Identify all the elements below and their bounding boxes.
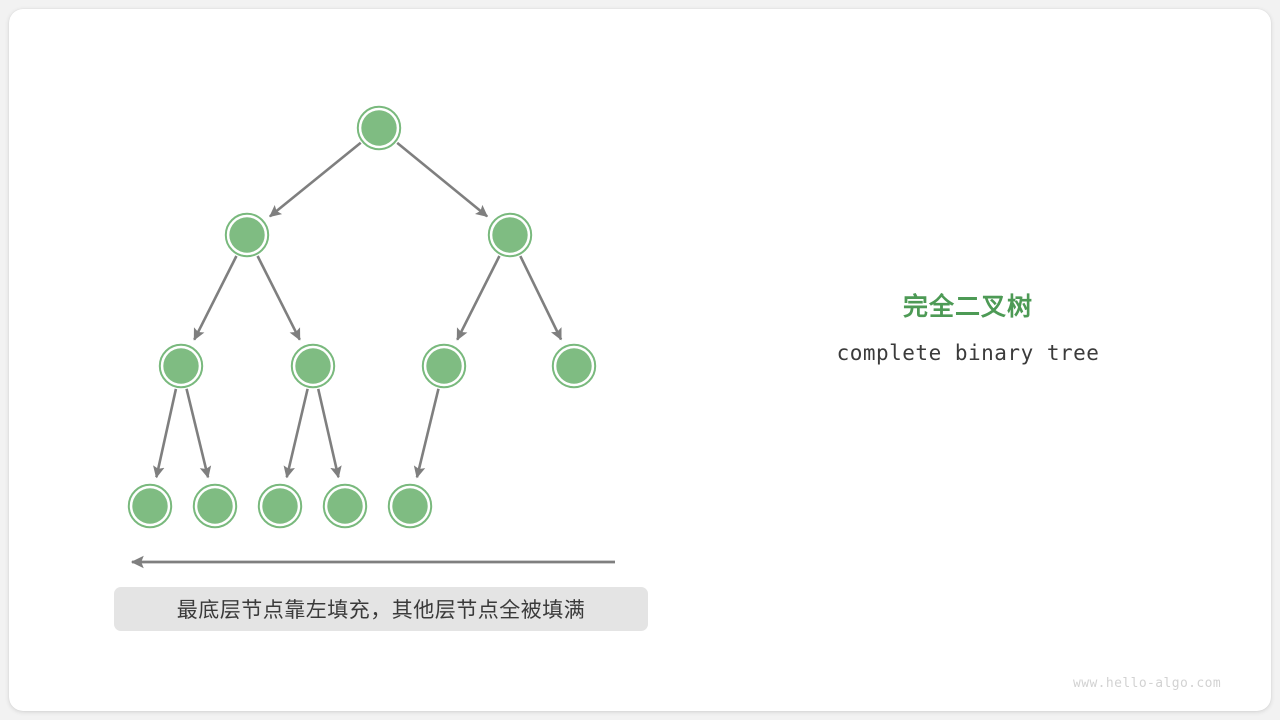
legend-title-cn: 完全二叉树	[768, 292, 1168, 322]
tree-node-fill	[295, 348, 330, 383]
tree-node	[324, 485, 366, 527]
tree-node	[226, 214, 268, 256]
tree-edge	[258, 256, 300, 340]
tree-node-fill	[163, 348, 198, 383]
tree-node	[129, 485, 171, 527]
tree-nodes	[129, 107, 595, 527]
legend-title-en: complete binary tree	[768, 341, 1168, 365]
tree-node-fill	[392, 488, 427, 523]
slide-canvas: 完全二叉树 complete binary tree 最底层节点靠左填充，其他层…	[0, 0, 1280, 720]
tree-node	[489, 214, 531, 256]
tree-edge	[397, 143, 487, 216]
tree-edge	[287, 389, 308, 477]
legend-title-block: 完全二叉树 complete binary tree	[768, 292, 1168, 365]
tree-node	[194, 485, 236, 527]
tree-edge	[194, 256, 236, 340]
tree-edge	[187, 389, 208, 477]
tree-edge	[457, 256, 499, 340]
tree-node	[160, 345, 202, 387]
tree-node-fill	[361, 110, 396, 145]
tree-node-fill	[492, 217, 527, 252]
tree-node-fill	[132, 488, 167, 523]
caption-text: 最底层节点靠左填充，其他层节点全被填满	[177, 594, 586, 624]
tree-node	[423, 345, 465, 387]
tree-node-fill	[426, 348, 461, 383]
tree-node-fill	[556, 348, 591, 383]
tree-node-fill	[327, 488, 362, 523]
tree-node-fill	[197, 488, 232, 523]
tree-node	[358, 107, 400, 149]
watermark: www.hello-algo.com	[1073, 676, 1221, 691]
tree-node	[259, 485, 301, 527]
tree-edge	[318, 389, 338, 477]
tree-node-fill	[229, 217, 264, 252]
tree-node	[553, 345, 595, 387]
tree-edges	[156, 143, 561, 478]
tree-node-fill	[262, 488, 297, 523]
tree-node	[389, 485, 431, 527]
caption-badge: 最底层节点靠左填充，其他层节点全被填满	[114, 587, 648, 631]
tree-edge	[270, 143, 361, 217]
tree-edge	[520, 256, 561, 339]
tree-edge	[156, 389, 176, 477]
tree-edge	[417, 389, 438, 477]
tree-node	[292, 345, 334, 387]
